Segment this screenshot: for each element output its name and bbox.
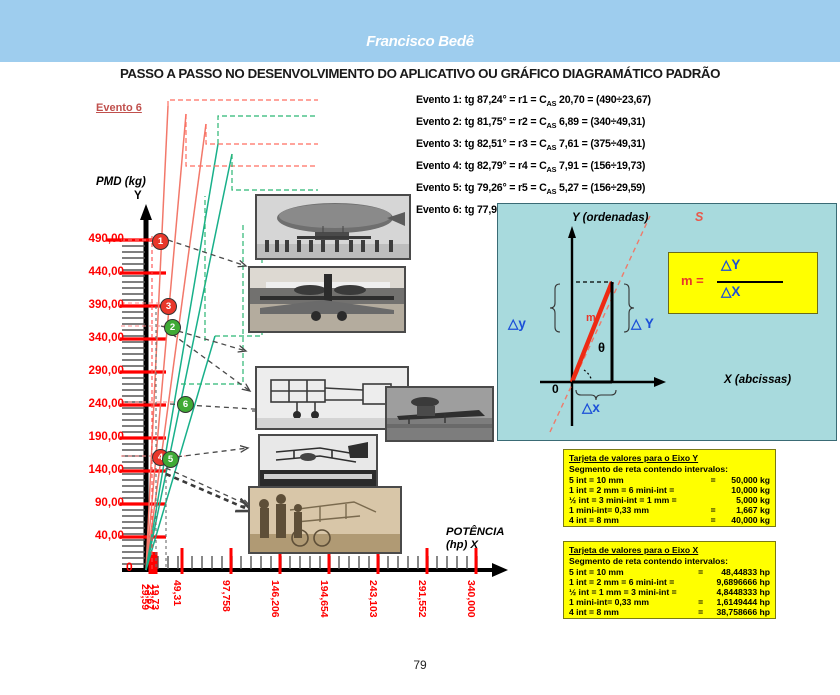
row-value: 4,8448333 hp <box>709 587 770 597</box>
x-tick-label: 49,31 <box>171 580 182 606</box>
card-x-title: Tarjeta de valores para o Eixo X <box>569 545 770 555</box>
legend-item-1-text: Evento 1: tg 87,24° = r1 = CAS 20,70 = (… <box>416 94 651 106</box>
table-row: 1 mini-int= 0,33 mm=1,667 kg <box>569 505 770 515</box>
row-value: 48,44833 hp <box>709 567 770 577</box>
row-equals: = <box>693 597 709 607</box>
row-label: 4 int = 8 mm <box>569 607 693 617</box>
page-number: 79 <box>0 658 840 672</box>
ray-evento-2 <box>146 154 232 570</box>
diagram-canvas: Evento 6 PMD (kg) Y POTÊNCIA (hp) X 0 49… <box>0 86 840 646</box>
card-eixo-y: Tarjeta de valores para o Eixo Y Segment… <box>563 449 776 527</box>
slope-formula-box: m = △Y △X <box>668 252 818 314</box>
table-row: 5 int = 10 mm=48,44833 hp <box>569 567 770 577</box>
y-tick-label: 490,00 <box>89 232 124 245</box>
header-band <box>0 0 840 62</box>
biplane-crowd-photo <box>248 266 406 333</box>
row-value: 38,758666 hp <box>709 607 770 617</box>
legend-item-3: Evento 3: tg 82,51° = r3 = CAS 7,61 = (3… <box>416 138 645 152</box>
inset-delta-x: △x <box>582 400 600 416</box>
inset-delta-y-left: △y <box>508 316 526 332</box>
ray-evento-3 <box>146 124 206 570</box>
y-tick-label: 440,00 <box>89 265 124 278</box>
table-row: ½ int = 1 mm = 3 mini-int =4,8448333 hp <box>569 587 770 597</box>
row-label: ½ int = 1 mm = 3 mini-int = <box>569 587 693 597</box>
table-row: 1 mini-int= 0,33 mm=1,6149444 hp <box>569 597 770 607</box>
inset-m-label: m <box>586 312 596 324</box>
y-axis-symbol: Y <box>134 190 142 202</box>
x-tick-label: 194,654 <box>318 580 329 618</box>
y-tick-label: 140,00 <box>89 463 124 476</box>
sepia-glider-photo <box>248 486 402 554</box>
legend-item-5: Evento 5: tg 79,26° = r5 = CAS 5,27 = (1… <box>416 182 645 196</box>
x-axis-title-sub: (hp) X <box>446 539 478 551</box>
glider-field-photo <box>258 434 378 490</box>
y-tick-label: 190,00 <box>89 430 124 443</box>
table-row: 4 int = 8 mm=40,000 kg <box>569 515 770 525</box>
row-equals: = <box>693 607 709 617</box>
evento6-note: Evento 6 <box>96 102 142 114</box>
page-title: PASSO A PASSO NO DESENVOLVIMENTO DO APLI… <box>0 66 840 81</box>
row-label: 4 int = 8 mm <box>569 515 705 525</box>
row-value: 10,000 kg <box>721 485 770 495</box>
table-row: 4 int = 8 mm=38,758666 hp <box>569 607 770 617</box>
row-label: 1 mini-int= 0,33 mm <box>569 597 693 607</box>
legend-item-2-text: Evento 2: tg 81,75° = r2 = CAS 6,89 = (3… <box>416 116 645 128</box>
card-y-title: Tarjeta de valores para o Eixo Y <box>569 453 770 463</box>
event-marker-1[interactable]: 1 <box>152 233 169 250</box>
inset-vector <box>498 204 836 440</box>
row-value: 9,6896666 hp <box>709 577 770 587</box>
formula-bar <box>717 281 783 283</box>
legend-item-1: Evento 1: tg 87,24° = r1 = CAS 20,70 = (… <box>416 94 651 108</box>
legend-item-4-text: Evento 4: tg 82,79° = r4 = CAS 7,91 = (1… <box>416 160 645 172</box>
table-row: 1 int = 2 mm = 6 mini-int =9,6896666 hp <box>569 577 770 587</box>
inset-x-label: X (abcissas) <box>724 374 791 386</box>
table-row: ½ int = 3 mini-int = 1 mm =5,000 kg <box>569 495 770 505</box>
x-tick-label: 97,758 <box>220 580 231 612</box>
card-y-subtitle: Segmento de reta contendo intervalos: <box>569 464 770 474</box>
row-label: 5 int = 10 mm <box>569 567 693 577</box>
x-tick-label: 19,73 <box>149 584 160 610</box>
x-tick-label: 340,000 <box>465 580 476 618</box>
legend-item-3-text: Evento 3: tg 82,51° = r3 = CAS 7,61 = (3… <box>416 138 645 150</box>
row-value: 1,6149444 hp <box>709 597 770 607</box>
formula-denominator: △X <box>721 284 740 300</box>
row-label: 1 int = 2 mm = 6 mini-int = <box>569 485 705 495</box>
legend-item-5-text: Evento 5: tg 79,26° = r5 = CAS 5,27 = (1… <box>416 182 645 194</box>
card-eixo-x: Tarjeta de valores para o Eixo X Segment… <box>563 541 776 619</box>
origin-label: 0 <box>126 560 133 574</box>
y-tick-label: 290,00 <box>89 364 124 377</box>
row-equals <box>693 587 709 597</box>
row-value: 50,000 kg <box>721 475 770 485</box>
author-title: Francisco Bedê <box>0 33 840 50</box>
row-equals: = <box>705 475 721 485</box>
formula-m: m = <box>681 273 704 288</box>
row-label: 1 int = 2 mm = 6 mini-int = <box>569 577 693 587</box>
row-value: 5,000 kg <box>721 495 770 505</box>
table-row: 5 int = 10 mm=50,000 kg <box>569 475 770 485</box>
card-x-table: 5 int = 10 mm=48,44833 hp1 int = 2 mm = … <box>569 567 770 617</box>
card-x-subtitle: Segmento de reta contendo intervalos: <box>569 556 770 566</box>
event-marker-6[interactable]: 6 <box>177 396 194 413</box>
slope-inset-panel: Y (ordenadas) X (abcissas) S m θ 0 △y △ … <box>497 203 837 441</box>
row-label: 1 mini-int= 0,33 mm <box>569 505 705 515</box>
inset-y-label: Y (ordenadas) <box>572 212 648 224</box>
row-value: 1,667 kg <box>721 505 770 515</box>
event-marker-3[interactable]: 3 <box>160 298 177 315</box>
inset-origin-label: 0 <box>552 382 559 396</box>
formula-numerator: △Y <box>721 257 740 273</box>
y-tick-label: 390,00 <box>89 298 124 311</box>
row-equals <box>705 485 721 495</box>
monoplane-flight-photo <box>385 386 494 442</box>
row-value: 40,000 kg <box>721 515 770 525</box>
y-tick-label: 40,00 <box>95 529 124 542</box>
legend-item-4: Evento 4: tg 82,79° = r4 = CAS 7,91 = (1… <box>416 160 645 174</box>
airship-photo <box>255 194 411 260</box>
event-marker-2[interactable]: 2 <box>164 319 181 336</box>
row-equals <box>693 577 709 587</box>
inset-s-label: S <box>695 210 703 224</box>
table-row: 1 int = 2 mm = 6 mini-int =10,000 kg <box>569 485 770 495</box>
row-equals: = <box>693 567 709 577</box>
y-tick-label: 340,00 <box>89 331 124 344</box>
event-marker-5[interactable]: 5 <box>162 451 179 468</box>
row-equals: = <box>705 515 721 525</box>
x-axis-title: POTÊNCIA (hp) X <box>446 526 504 552</box>
inset-delta-y-right: △ Y <box>631 316 654 332</box>
row-equals <box>705 495 721 505</box>
y-tick-label: 240,00 <box>89 397 124 410</box>
row-equals: = <box>705 505 721 515</box>
card-y-table: 5 int = 10 mm=50,000 kg1 int = 2 mm = 6 … <box>569 475 770 525</box>
row-label: ½ int = 3 mini-int = 1 mm = <box>569 495 705 505</box>
x-tick-label: 146,206 <box>269 580 280 618</box>
photo-callouts-thick <box>166 474 252 511</box>
row-label: 5 int = 10 mm <box>569 475 705 485</box>
x-tick-label: 243,103 <box>367 580 378 618</box>
y-tick-label: 90,00 <box>95 496 124 509</box>
x-tick-label: 291,552 <box>416 580 427 618</box>
legend-item-2: Evento 2: tg 81,75° = r2 = CAS 6,89 = (3… <box>416 116 645 130</box>
inset-theta-label: θ <box>598 340 605 355</box>
y-axis-title: PMD (kg) <box>96 176 146 188</box>
x-axis-title-main: POTÊNCIA <box>446 526 504 538</box>
